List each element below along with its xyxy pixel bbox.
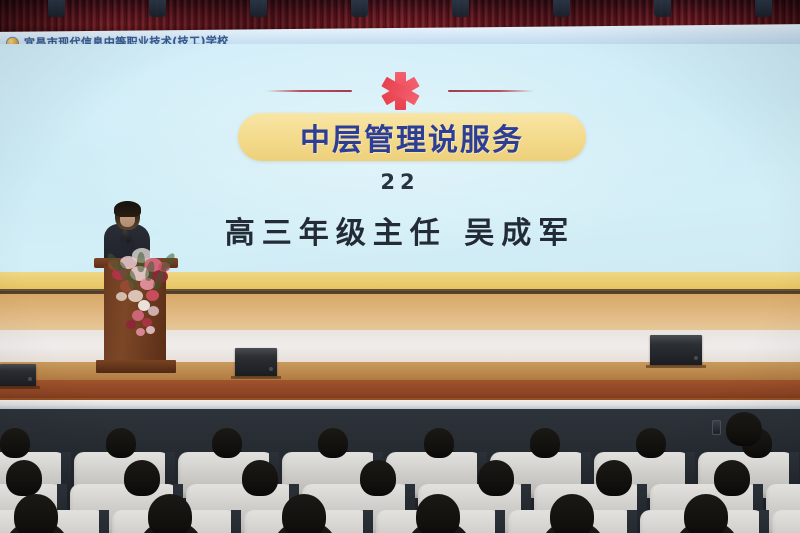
audience-member-head [416,494,460,533]
stage-monitor-right-shelf [646,365,706,368]
audience-member-head [242,460,278,496]
audience-member-head [478,460,514,496]
asterisk-flower-icon [378,70,422,112]
flower-petal [146,290,159,301]
ceiling-light [755,0,772,17]
seat-aisle-gap [363,510,373,533]
audience-seat [772,510,800,533]
audience-member-head [212,428,242,458]
audience-member-head [636,428,666,458]
audience-phone-icon [712,420,721,435]
podium-and-speaker [78,196,198,386]
decorative-rule-right [448,90,534,92]
audience-member-with-phone [726,412,762,446]
audience-member-head [318,428,348,458]
audience-member-head [106,428,136,458]
audience-member-head [0,428,30,458]
floral-arrangement-icon [86,244,190,336]
slide-title-pill: 中层管理说服务 [238,113,586,161]
audience-member-head [550,494,594,533]
auditorium-photo: 宜昌市现代信息中等职业技术(技工)学校 中层管理说服务 22 高三年级主任 吴成… [0,0,800,533]
slide-number-text: 22 [0,170,800,194]
ceiling-light [250,0,267,17]
stage-monitor-center-shelf [231,376,281,379]
slide-decoration-row [0,70,800,112]
ceiling-light [452,0,469,17]
ceiling-light [654,0,671,17]
audience-member-head [530,428,560,458]
ceiling-light [48,0,65,17]
audience-member-head [596,460,632,496]
seat-aisle-gap [627,510,637,533]
audience-member-head [148,494,192,533]
flower-petal [116,292,127,301]
flower-petal [146,326,155,334]
audience-member-head [14,494,58,533]
speaker-hair [114,201,141,217]
ceiling-light [149,0,166,17]
flower-petal [136,328,145,336]
decorative-rule-left [266,90,352,92]
flower-petal [126,320,136,329]
rear-wall-light-strip [0,400,800,409]
audience-member-head [714,460,750,496]
ceiling-light [553,0,570,17]
seat-aisle-gap [495,510,505,533]
audience-member-head [424,428,454,458]
seat-aisle-gap [759,510,769,533]
audience-member-head [282,494,326,533]
flower-petal [148,306,159,316]
audience-member-head [684,494,728,533]
flower-foliage [137,252,145,272]
audience-member-head [360,460,396,496]
stage-monitor-center [235,348,277,376]
seat-aisle-gap [231,510,241,533]
stage-monitor-right [650,335,702,365]
audience-member-head [6,460,42,496]
stage-monitor-left-shelf [0,386,40,389]
seat-aisle-gap [99,510,109,533]
slide-title-text: 中层管理说服务 [300,115,524,159]
stage-monitor-left [0,364,36,386]
audience-area [0,398,800,533]
audience-member-head [124,460,160,496]
ceiling-light [351,0,368,17]
podium-base [96,360,176,373]
